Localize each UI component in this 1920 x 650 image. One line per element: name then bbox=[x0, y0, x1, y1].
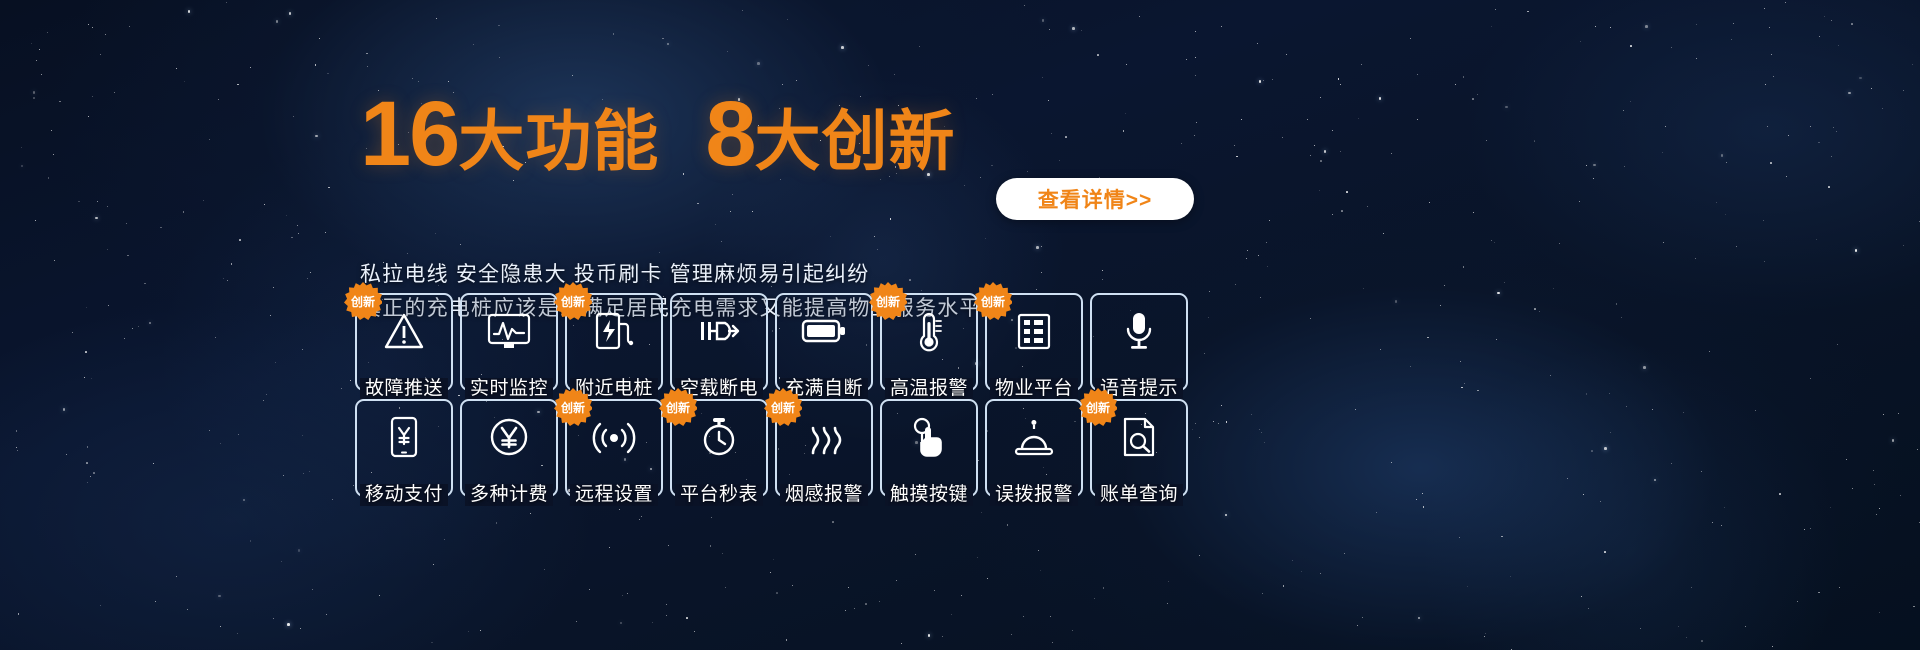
feature-tile[interactable]: 创新烟感报警 bbox=[775, 399, 873, 497]
feature-tile-label: 烟感报警 bbox=[780, 484, 868, 506]
feature-tile-label: 移动支付 bbox=[360, 484, 448, 506]
charging-station-icon bbox=[588, 307, 640, 355]
plug-disconnect-icon bbox=[693, 307, 745, 355]
innovation-badge-label: 创新 bbox=[981, 293, 1005, 310]
mobile-payment-icon bbox=[378, 413, 430, 461]
feature-tile[interactable]: 语音提示 bbox=[1090, 293, 1188, 391]
feature-tile-label: 远程设置 bbox=[570, 484, 658, 506]
smoke-detector-icon bbox=[798, 413, 850, 461]
feature-tile[interactable]: 空载断电 bbox=[670, 293, 768, 391]
feature-row-1: 创新故障推送实时监控创新附近电桩空载断电充满自断创新高温报警创新物业平台语音提示 bbox=[355, 293, 1188, 391]
stopwatch-icon bbox=[693, 413, 745, 461]
feature-tile[interactable]: 多种计费 bbox=[460, 399, 558, 497]
feature-tile[interactable]: 实时监控 bbox=[460, 293, 558, 391]
bill-search-icon bbox=[1113, 413, 1165, 461]
feature-tile[interactable]: 创新物业平台 bbox=[985, 293, 1083, 391]
headline-text-innovations: 大创新 bbox=[755, 108, 956, 177]
promo-banner: 16 大功能 8 大创新 私拉电线 安全隐患大 投币刷卡 管理麻烦易引起纠纷 真… bbox=[0, 0, 1920, 650]
feature-tile[interactable]: 移动支付 bbox=[355, 399, 453, 497]
feature-tile[interactable]: 创新故障推送 bbox=[355, 293, 453, 391]
innovation-badge-label: 创新 bbox=[561, 293, 585, 310]
innovation-badge-label: 创新 bbox=[771, 399, 795, 416]
feature-tile[interactable]: 误拨报警 bbox=[985, 399, 1083, 497]
building-icon bbox=[1008, 307, 1060, 355]
feature-tile-label: 实时监控 bbox=[465, 378, 553, 400]
feature-tile-label: 误拨报警 bbox=[990, 484, 1078, 506]
feature-tile-label: 故障推送 bbox=[360, 378, 448, 400]
innovation-badge-label: 创新 bbox=[876, 293, 900, 310]
view-details-button[interactable]: 查看详情>> bbox=[996, 178, 1194, 220]
wireless-signal-icon bbox=[588, 413, 640, 461]
microphone-icon bbox=[1113, 307, 1165, 355]
warning-triangle-icon bbox=[378, 307, 430, 355]
feature-tile[interactable]: 创新平台秒表 bbox=[670, 399, 768, 497]
alarm-bell-icon bbox=[1008, 413, 1060, 461]
feature-tile-label: 高温报警 bbox=[885, 378, 973, 400]
feature-tile[interactable]: 创新高温报警 bbox=[880, 293, 978, 391]
feature-tile[interactable]: 创新远程设置 bbox=[565, 399, 663, 497]
innovation-badge: 创新 bbox=[344, 282, 382, 320]
innovation-badge: 创新 bbox=[554, 282, 592, 320]
monitor-waveform-icon bbox=[483, 307, 535, 355]
banner-content: 16 大功能 8 大创新 私拉电线 安全隐患大 投币刷卡 管理麻烦易引起纠纷 真… bbox=[0, 0, 1920, 650]
feature-tile-label: 平台秒表 bbox=[675, 484, 763, 506]
thermometer-icon bbox=[903, 307, 955, 355]
feature-tile-label: 账单查询 bbox=[1095, 484, 1183, 506]
headline-text-functions: 大功能 bbox=[458, 108, 659, 177]
feature-row-2: 移动支付多种计费创新远程设置创新平台秒表创新烟感报警触摸按键误拨报警创新账单查询 bbox=[355, 399, 1188, 497]
innovation-badge-label: 创新 bbox=[1086, 399, 1110, 416]
innovation-badge-label: 创新 bbox=[561, 399, 585, 416]
innovation-badge: 创新 bbox=[659, 388, 697, 426]
innovation-badge: 创新 bbox=[974, 282, 1012, 320]
headline-number-8: 8 bbox=[705, 92, 754, 177]
innovation-badge-label: 创新 bbox=[351, 293, 375, 310]
innovation-badge: 创新 bbox=[764, 388, 802, 426]
feature-tile[interactable]: 充满自断 bbox=[775, 293, 873, 391]
battery-full-icon bbox=[798, 307, 850, 355]
feature-tile[interactable]: 创新账单查询 bbox=[1090, 399, 1188, 497]
touch-hand-icon bbox=[903, 413, 955, 461]
yuan-coin-icon bbox=[483, 413, 535, 461]
feature-tile[interactable]: 触摸按键 bbox=[880, 399, 978, 497]
feature-tile-label: 触摸按键 bbox=[885, 484, 973, 506]
innovation-badge-label: 创新 bbox=[666, 399, 690, 416]
innovation-badge: 创新 bbox=[1079, 388, 1117, 426]
feature-tile[interactable]: 创新附近电桩 bbox=[565, 293, 663, 391]
innovation-badge: 创新 bbox=[869, 282, 907, 320]
headline: 16 大功能 8 大创新 bbox=[360, 92, 956, 177]
innovation-badge: 创新 bbox=[554, 388, 592, 426]
feature-tile-label: 多种计费 bbox=[465, 484, 553, 506]
headline-number-16: 16 bbox=[360, 92, 458, 177]
feature-grid: 创新故障推送实时监控创新附近电桩空载断电充满自断创新高温报警创新物业平台语音提示… bbox=[355, 293, 1188, 497]
feature-tile-label: 物业平台 bbox=[990, 378, 1078, 400]
